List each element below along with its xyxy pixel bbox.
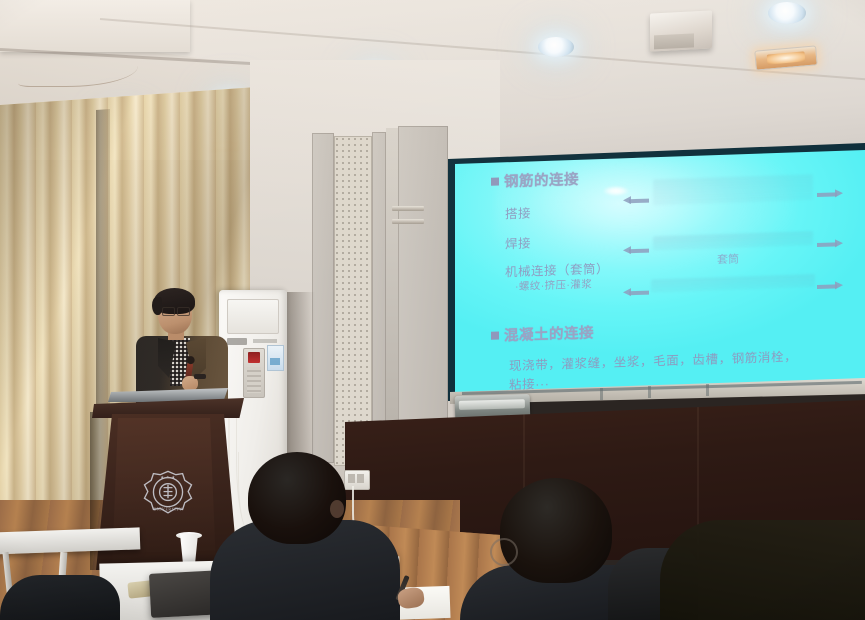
presentation-slide: 钢筋的连接 搭接 焊接 机械连接（套筒） ·螺纹·挤压·灌浆 套筒 <box>455 150 865 394</box>
projection-screen: 钢筋的连接 搭接 焊接 机械连接（套筒） ·螺纹·挤压·灌浆 套筒 <box>455 150 865 394</box>
rebar-sleeve-illustration <box>651 274 815 292</box>
ceiling-soffit <box>0 0 190 52</box>
ac-buttons[interactable] <box>247 367 261 393</box>
perforated-acoustic-panel <box>334 136 372 466</box>
rail-post <box>706 384 709 396</box>
slide-item-lap-splice: 搭接 <box>505 202 531 222</box>
rebar-illustration <box>653 231 813 250</box>
downlight-icon <box>768 2 806 24</box>
wall-metal-bar <box>392 206 424 211</box>
slide-heading-2: 混凝土的连接 <box>491 321 594 345</box>
slide-heading-1: 钢筋的连接 <box>491 168 579 192</box>
curtain-gap <box>96 109 110 410</box>
acoustic-panel-left <box>312 133 334 463</box>
wall-metal-bar <box>392 219 424 224</box>
lecture-hall-photo: 钢筋的连接 搭接 焊接 机械连接（套筒） ·螺纹·挤压·灌浆 套筒 <box>0 0 865 620</box>
downlight-icon <box>538 37 574 57</box>
audience-head <box>248 452 346 544</box>
slide-item-concrete-methods: 现浇带，灌浆缝，坐浆，毛面，齿槽，钢筋消栓， <box>509 346 797 375</box>
acoustic-panel-mid <box>372 132 386 462</box>
arrow-right-icon <box>817 189 843 199</box>
ac-control-panel[interactable] <box>243 348 265 398</box>
wristwatch-icon <box>194 374 206 379</box>
diagram-row-sleeve <box>623 277 843 302</box>
svg-text:UNIVERSITY: UNIVERSITY <box>153 508 182 512</box>
arrow-left-icon <box>623 196 649 206</box>
slide-item-weld-splice: 焊接 <box>505 232 531 252</box>
rebar-illustration <box>653 174 813 205</box>
ac-energy-label <box>267 345 284 371</box>
svg-text:★ ★ ★: ★ ★ ★ <box>160 476 175 480</box>
foreground-shadow-right <box>660 520 865 620</box>
arrow-right-icon <box>817 281 843 291</box>
arrow-right-icon <box>817 239 843 249</box>
audience-ear <box>330 500 344 518</box>
audience-head <box>500 478 612 583</box>
projector-hotspot <box>603 186 629 196</box>
rail-post <box>648 386 651 398</box>
sleeve-label: 套筒 <box>717 251 739 268</box>
diagram-row-lap <box>623 185 843 210</box>
projector-mount <box>650 10 712 51</box>
ac-display <box>248 352 260 363</box>
bullet-square-icon <box>491 178 499 186</box>
slide-item-splice-methods: ·螺纹·挤压·灌浆 <box>515 276 592 294</box>
arrow-left-icon <box>623 246 649 256</box>
rail-post <box>600 388 603 400</box>
university-emblem-icon: ★ ★ ★ UNIVERSITY <box>140 468 196 524</box>
foreground-chair-left <box>0 575 120 620</box>
spotlight-icon <box>754 45 818 70</box>
acoustic-panel-right <box>398 126 448 461</box>
acoustic-panel-strip <box>386 128 398 458</box>
arrow-left-icon <box>623 288 649 298</box>
ac-brand-text <box>253 339 277 343</box>
bullet-square-icon <box>491 332 499 340</box>
glasses-icon <box>162 307 190 314</box>
